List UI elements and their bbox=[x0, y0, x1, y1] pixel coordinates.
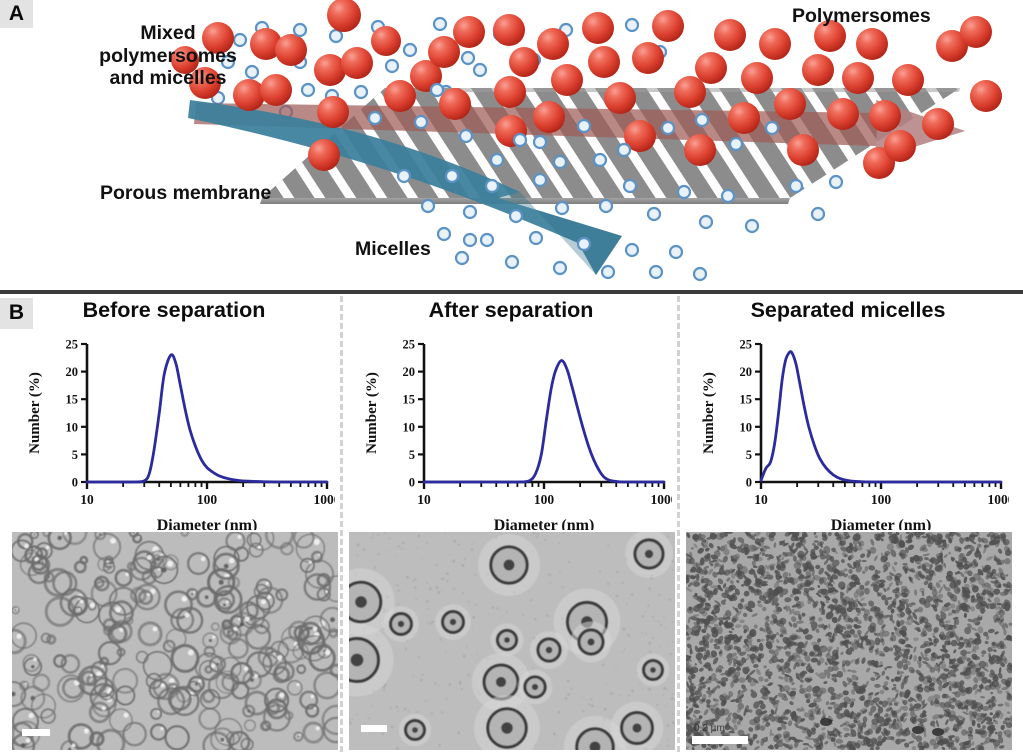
vesicle-core bbox=[219, 580, 224, 585]
speckle bbox=[467, 674, 470, 677]
speckle bbox=[586, 700, 587, 701]
vesicle-highlight bbox=[124, 713, 129, 718]
vesicle-core bbox=[31, 665, 34, 668]
speckle bbox=[640, 589, 641, 590]
speckle bbox=[449, 683, 452, 686]
vesicle-highlight bbox=[115, 607, 121, 613]
dls-chart-before-separation: 0510152025101001000Number (%)Diameter (n… bbox=[15, 330, 335, 530]
speckle bbox=[608, 545, 610, 547]
y-tick-label: 0 bbox=[746, 476, 752, 490]
micelle-aggregate bbox=[820, 718, 832, 726]
speckle bbox=[397, 710, 399, 712]
speckle bbox=[413, 675, 414, 676]
speckle bbox=[427, 622, 429, 624]
vesicle-highlight bbox=[72, 744, 76, 748]
speckle bbox=[395, 650, 396, 651]
vesicle-highlight bbox=[254, 674, 258, 678]
y-tick-label: 0 bbox=[72, 476, 78, 490]
speckle bbox=[446, 580, 448, 582]
speckle bbox=[649, 651, 651, 653]
speckle bbox=[461, 689, 462, 690]
distribution-curve bbox=[761, 352, 1001, 483]
figure-root: A Mixed polymersomes and micelles Porous… bbox=[0, 0, 1023, 752]
speckle bbox=[375, 566, 376, 567]
y-tick-label: 0 bbox=[409, 476, 415, 490]
micelle-aggregate bbox=[932, 728, 944, 736]
vesicle-highlight bbox=[29, 713, 34, 718]
speckle bbox=[658, 594, 660, 596]
speckle bbox=[617, 572, 618, 573]
speckle bbox=[665, 627, 666, 628]
speckle bbox=[436, 586, 439, 589]
column-title: After separation bbox=[344, 298, 678, 323]
speckle bbox=[623, 628, 626, 631]
speckle bbox=[672, 721, 675, 724]
y-tick-label: 25 bbox=[66, 338, 79, 352]
speckle bbox=[381, 733, 383, 735]
vesicle-highlight bbox=[245, 617, 250, 622]
speckle bbox=[591, 698, 593, 700]
speckle bbox=[396, 556, 397, 557]
tem-micrograph-separated-micelles: 0.2 µm bbox=[686, 532, 1012, 750]
vesicle-highlight bbox=[226, 601, 229, 604]
vesicle-highlight bbox=[277, 655, 282, 660]
vesicle-core bbox=[398, 621, 404, 627]
speckle bbox=[590, 699, 591, 700]
speckle bbox=[533, 532, 536, 535]
speckle bbox=[667, 646, 668, 647]
vesicle-core bbox=[355, 596, 367, 608]
speckle bbox=[565, 697, 568, 700]
dls-chart-separated-micelles: 0510152025101001000Number (%)Diameter (n… bbox=[689, 330, 1009, 530]
speckle bbox=[641, 616, 643, 618]
speckle bbox=[428, 608, 430, 610]
y-tick-label: 5 bbox=[72, 448, 78, 462]
speckle bbox=[670, 653, 672, 655]
speckle bbox=[431, 712, 433, 714]
scale-bar-label: 0.2 µm bbox=[694, 723, 725, 734]
column-title: Before separation bbox=[7, 298, 341, 323]
speckle bbox=[477, 654, 478, 655]
speckle bbox=[489, 614, 490, 615]
speckle bbox=[448, 603, 449, 604]
vesicle-core bbox=[228, 631, 230, 633]
speckle bbox=[431, 621, 434, 624]
speckle bbox=[402, 548, 404, 550]
speckle bbox=[522, 614, 524, 616]
speckle bbox=[641, 633, 642, 634]
column-divider-2 bbox=[677, 296, 680, 752]
speckle bbox=[445, 651, 447, 653]
speckle bbox=[396, 706, 398, 708]
micelle-dot bbox=[986, 721, 994, 725]
vesicle-highlight bbox=[188, 650, 194, 656]
vesicle-core bbox=[298, 736, 300, 738]
speckle bbox=[398, 589, 400, 591]
vesicle-highlight bbox=[211, 664, 215, 668]
y-axis-title: Number (%) bbox=[701, 372, 717, 454]
speckle bbox=[422, 674, 424, 676]
tem-micrograph-after-separation bbox=[349, 532, 675, 750]
vesicle-core bbox=[501, 722, 513, 734]
vesicle-highlight bbox=[80, 600, 84, 604]
vesicle-highlight bbox=[311, 695, 315, 699]
speckle bbox=[667, 536, 669, 538]
micelle-dot bbox=[884, 681, 889, 685]
vesicle-highlight bbox=[138, 536, 140, 538]
micelle-dot bbox=[738, 567, 740, 576]
speckle bbox=[669, 639, 670, 640]
vesicle-core bbox=[504, 560, 515, 571]
speckle bbox=[360, 535, 361, 536]
speckle bbox=[350, 733, 351, 734]
speckle bbox=[473, 542, 474, 543]
vesicle-highlight bbox=[325, 650, 330, 655]
speckle bbox=[402, 542, 405, 545]
speckle bbox=[571, 688, 573, 690]
speckle bbox=[567, 680, 570, 683]
panel-b-data: Before separation 0510152025101001000Num… bbox=[0, 294, 1023, 752]
vesicle-highlight bbox=[258, 546, 261, 549]
vesicle-core bbox=[412, 727, 418, 733]
vesicle-highlight bbox=[316, 726, 320, 730]
speckle bbox=[568, 561, 570, 563]
vesicle-highlight bbox=[110, 538, 116, 544]
speckle bbox=[471, 548, 474, 551]
x-tick-label: 100 bbox=[534, 492, 555, 507]
vesicle-core bbox=[224, 564, 229, 569]
vesicle-highlight bbox=[161, 684, 165, 688]
vesicle-highlight bbox=[16, 608, 17, 609]
vesicle-core bbox=[330, 617, 335, 622]
speckle bbox=[464, 558, 466, 560]
x-tick-label: 10 bbox=[80, 492, 94, 507]
vesicle-highlight bbox=[84, 728, 89, 733]
label-micelles: Micelles bbox=[355, 238, 431, 261]
vesicle-highlight bbox=[174, 686, 176, 688]
speckle bbox=[368, 717, 370, 719]
speckle bbox=[457, 731, 460, 734]
speckle bbox=[440, 638, 442, 640]
speckle bbox=[446, 572, 449, 575]
speckle bbox=[450, 555, 451, 556]
speckle bbox=[372, 706, 373, 707]
speckle bbox=[556, 671, 557, 672]
speckle bbox=[663, 694, 665, 696]
speckle bbox=[602, 664, 605, 667]
speckle bbox=[557, 678, 558, 679]
vesicle-core bbox=[496, 677, 506, 687]
speckle bbox=[555, 741, 556, 742]
micelle-dot bbox=[815, 565, 820, 569]
x-axis-title: Diameter (nm) bbox=[831, 517, 932, 530]
vesicle-highlight bbox=[160, 727, 163, 730]
speckle bbox=[531, 604, 532, 605]
vesicle-core bbox=[632, 723, 641, 732]
vesicle-core bbox=[34, 534, 35, 535]
speckle bbox=[425, 700, 427, 702]
speckle bbox=[620, 695, 622, 697]
y-tick-label: 20 bbox=[740, 365, 753, 379]
micelle-dot bbox=[794, 596, 799, 601]
vesicle-core bbox=[223, 604, 226, 607]
y-tick-label: 25 bbox=[740, 338, 753, 352]
speckle bbox=[474, 559, 475, 560]
speckle bbox=[562, 586, 564, 588]
vesicle-highlight bbox=[119, 628, 123, 632]
speckle bbox=[604, 708, 607, 711]
vesicle-core bbox=[220, 738, 225, 743]
label-mixed-polymersomes-and-micelles: Mixed polymersomes and micelles bbox=[78, 22, 258, 90]
micelle-dot bbox=[789, 573, 791, 577]
speckle bbox=[497, 607, 499, 609]
speckle bbox=[532, 668, 534, 670]
speckle bbox=[639, 683, 641, 685]
speckle bbox=[360, 734, 361, 735]
speckle bbox=[356, 543, 359, 546]
vesicle-core bbox=[205, 595, 209, 599]
y-tick-label: 10 bbox=[66, 420, 79, 434]
vesicle-core bbox=[504, 637, 510, 643]
y-tick-label: 20 bbox=[403, 365, 416, 379]
speckle bbox=[550, 582, 552, 584]
vesicle-highlight bbox=[79, 608, 81, 610]
speckle bbox=[529, 640, 530, 641]
speckle bbox=[582, 710, 584, 712]
speckle bbox=[657, 621, 659, 623]
speckle bbox=[605, 684, 606, 685]
scale-bar bbox=[361, 725, 387, 732]
speckle bbox=[397, 585, 399, 587]
speckle bbox=[599, 570, 601, 572]
scale-bar bbox=[692, 736, 748, 744]
vesicle-core bbox=[546, 647, 553, 654]
speckle bbox=[441, 711, 443, 713]
vesicle-highlight bbox=[198, 679, 201, 682]
speckle bbox=[559, 572, 561, 574]
speckle bbox=[588, 703, 590, 705]
speckle bbox=[404, 708, 407, 711]
speckle bbox=[591, 704, 594, 707]
speckle bbox=[452, 560, 455, 563]
vesicle-core bbox=[645, 550, 653, 558]
vesicle-highlight bbox=[25, 683, 27, 685]
speckle bbox=[582, 697, 583, 698]
speckle bbox=[546, 614, 548, 616]
y-tick-label: 10 bbox=[740, 420, 753, 434]
speckle bbox=[390, 707, 392, 709]
panel-tag-a: A bbox=[0, 0, 33, 28]
vesicle-core bbox=[650, 667, 656, 673]
speckle bbox=[624, 649, 626, 651]
speckle bbox=[383, 686, 386, 689]
speckle bbox=[562, 532, 564, 534]
speckle bbox=[615, 668, 616, 669]
y-tick-label: 15 bbox=[403, 393, 416, 407]
speckle bbox=[455, 593, 456, 594]
vesicle-core bbox=[450, 619, 456, 625]
speckle bbox=[383, 689, 385, 691]
vesicle-core bbox=[15, 610, 16, 611]
speckle bbox=[408, 711, 410, 713]
speckle bbox=[663, 617, 665, 619]
speckle bbox=[437, 695, 438, 696]
speckle bbox=[644, 612, 645, 613]
speckle bbox=[616, 594, 619, 597]
speckle bbox=[500, 617, 501, 618]
vesicle-core bbox=[532, 684, 538, 690]
vesicle-highlight bbox=[309, 561, 312, 564]
distribution-curve bbox=[424, 361, 664, 483]
speckle bbox=[441, 578, 444, 581]
speckle bbox=[652, 637, 654, 639]
x-axis-title: Diameter (nm) bbox=[157, 517, 258, 530]
speckle bbox=[468, 601, 470, 603]
speckle bbox=[398, 604, 400, 606]
panel-tag-b: B bbox=[0, 298, 33, 329]
speckle bbox=[434, 682, 436, 684]
micelle-dot bbox=[843, 690, 849, 695]
vesicle-core bbox=[58, 536, 62, 540]
speckle bbox=[446, 698, 448, 700]
vesicle-highlight bbox=[279, 693, 284, 698]
speckle bbox=[648, 688, 651, 691]
vesicle-highlight bbox=[318, 554, 320, 556]
speckle bbox=[437, 591, 440, 594]
speckle bbox=[622, 651, 623, 652]
vesicle-highlight bbox=[108, 688, 111, 691]
speckle bbox=[429, 623, 431, 625]
speckle bbox=[391, 726, 394, 729]
vesicle-highlight bbox=[244, 667, 248, 671]
speckle bbox=[554, 744, 555, 745]
speckle bbox=[462, 592, 464, 594]
speckle bbox=[466, 646, 468, 648]
panel-divider-horizontal bbox=[0, 290, 1023, 294]
speckle bbox=[412, 580, 414, 582]
speckle bbox=[426, 582, 428, 584]
micelle-dot bbox=[749, 629, 756, 637]
vesicle-highlight bbox=[266, 582, 269, 585]
speckle bbox=[558, 542, 560, 544]
speckle bbox=[463, 655, 466, 658]
speckle bbox=[373, 534, 375, 536]
vesicle-highlight bbox=[24, 544, 29, 549]
x-tick-label: 10 bbox=[754, 492, 768, 507]
vesicle-highlight bbox=[125, 573, 128, 576]
speckle bbox=[578, 683, 579, 684]
speckle bbox=[439, 685, 440, 686]
vesicle-highlight bbox=[212, 636, 215, 639]
speckle bbox=[429, 588, 432, 591]
vesicle-highlight bbox=[299, 734, 301, 736]
speckle bbox=[426, 542, 428, 544]
micelle-dot bbox=[876, 533, 883, 536]
speckle bbox=[453, 540, 456, 543]
speckle bbox=[536, 536, 538, 538]
speckle bbox=[444, 533, 445, 534]
scale-bar bbox=[22, 729, 50, 736]
speckle bbox=[667, 739, 668, 740]
vesicle-highlight bbox=[17, 634, 22, 639]
speckle bbox=[647, 605, 649, 607]
speckle bbox=[628, 598, 629, 599]
speckle bbox=[548, 573, 551, 576]
speckle bbox=[415, 598, 417, 600]
vesicle-highlight bbox=[153, 627, 158, 632]
speckle bbox=[568, 693, 571, 696]
speckle bbox=[459, 681, 461, 683]
speckle bbox=[458, 658, 459, 659]
speckle bbox=[417, 547, 418, 548]
x-tick-label: 100 bbox=[197, 492, 218, 507]
speckle bbox=[669, 599, 671, 601]
speckle bbox=[610, 692, 613, 695]
speckle bbox=[417, 711, 419, 713]
tem-micrograph-before-separation bbox=[12, 532, 338, 750]
speckle bbox=[395, 584, 396, 585]
micelle-dot bbox=[849, 678, 853, 682]
speckle bbox=[475, 604, 477, 606]
distribution-curve bbox=[87, 355, 327, 482]
speckle bbox=[645, 633, 647, 635]
speckle bbox=[665, 706, 666, 707]
speckle bbox=[631, 593, 634, 596]
speckle bbox=[634, 580, 635, 581]
speckle bbox=[660, 646, 661, 647]
speckle bbox=[451, 696, 452, 697]
speckle bbox=[632, 629, 633, 630]
vesicle-highlight bbox=[147, 555, 152, 560]
speckle bbox=[578, 690, 579, 691]
speckle bbox=[405, 648, 407, 650]
micelle-dot bbox=[869, 645, 874, 653]
micelle-aggregate bbox=[912, 726, 924, 734]
speckle bbox=[666, 689, 668, 691]
speckle bbox=[472, 616, 474, 618]
speckle bbox=[530, 599, 532, 601]
micelle-dot bbox=[896, 732, 901, 737]
vesicle-highlight bbox=[102, 706, 106, 710]
speckle bbox=[492, 606, 495, 609]
y-tick-label: 25 bbox=[403, 338, 416, 352]
speckle bbox=[622, 582, 624, 584]
speckle bbox=[610, 716, 611, 717]
column-before-separation: Before separation 0510152025101001000Num… bbox=[7, 294, 341, 752]
vesicle-highlight bbox=[90, 602, 95, 607]
vesicle-core bbox=[191, 593, 193, 595]
speckle bbox=[642, 689, 643, 690]
speckle bbox=[386, 551, 387, 552]
speckle bbox=[406, 576, 409, 579]
speckle bbox=[418, 656, 420, 658]
speckle bbox=[396, 747, 399, 750]
vesicle-highlight bbox=[182, 596, 188, 602]
speckle bbox=[352, 718, 353, 719]
label-porous-membrane: Porous membrane bbox=[100, 182, 271, 205]
speckle bbox=[414, 586, 416, 588]
vesicle-highlight bbox=[193, 591, 195, 593]
speckle bbox=[406, 584, 407, 585]
speckle bbox=[363, 548, 366, 551]
speckle bbox=[421, 559, 422, 560]
speckle bbox=[377, 534, 379, 536]
vesicle-highlight bbox=[101, 665, 104, 668]
speckle bbox=[628, 694, 630, 696]
speckle bbox=[436, 564, 438, 566]
vesicle-highlight bbox=[296, 683, 299, 686]
y-tick-label: 10 bbox=[403, 420, 416, 434]
